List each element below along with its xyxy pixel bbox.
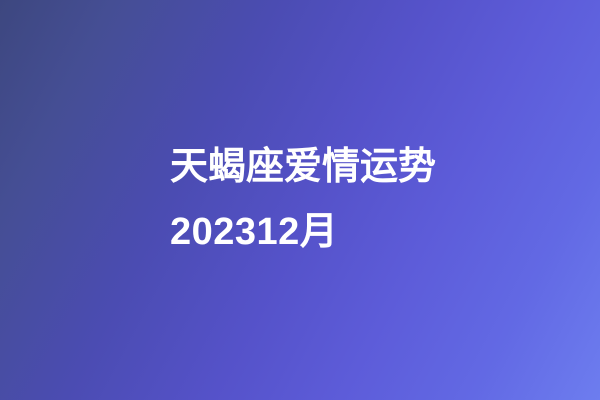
banner-title-line-secondary: 202312月 [170, 200, 338, 265]
banner-title-line-primary: 天蝎座爱情运势 [170, 135, 436, 200]
zodiac-horoscope-banner: 天蝎座爱情运势 202312月 [0, 0, 600, 400]
banner-title-block: 天蝎座爱情运势 202312月 [170, 135, 436, 265]
